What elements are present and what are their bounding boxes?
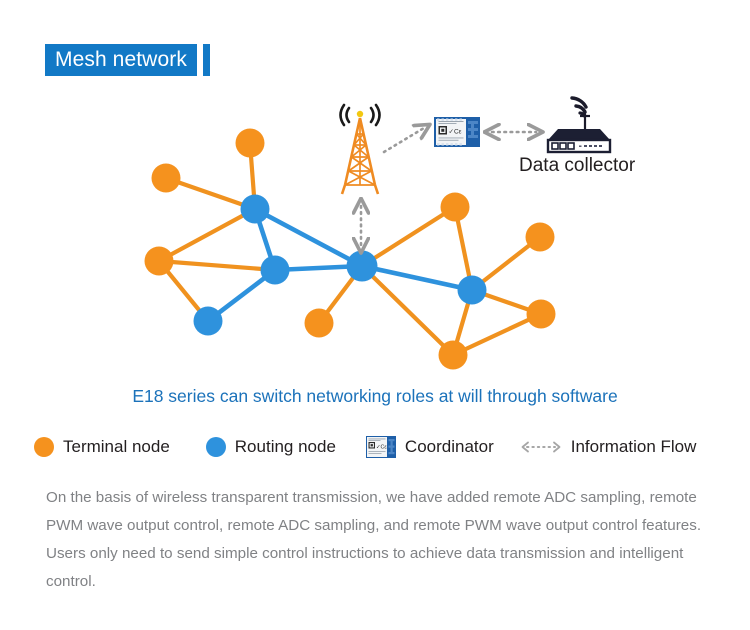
terminal-node — [526, 223, 555, 252]
legend: Terminal node Routing node ✓Cε — [34, 436, 724, 458]
terminal-node — [236, 129, 265, 158]
transmission-tower-icon — [341, 105, 380, 194]
routing-node — [261, 256, 290, 285]
orange-dot-icon — [34, 437, 54, 457]
coordinator-module-icon: ✓Cε — [434, 117, 480, 147]
legend-label: Terminal node — [63, 437, 170, 457]
legend-item-routing-node: Routing node — [206, 437, 336, 457]
legend-item-information-flow: Information Flow — [520, 437, 697, 457]
routing-node — [241, 195, 270, 224]
terminal-node — [145, 247, 174, 276]
legend-label: Routing node — [235, 437, 336, 457]
data-collector-label: Data collector — [519, 155, 635, 177]
diagram-caption: E18 series can switch networking roles a… — [0, 386, 750, 407]
legend-label: Information Flow — [571, 437, 697, 457]
legend-label: Coordinator — [405, 437, 494, 457]
coordinator-module-icon: ✓Cε — [366, 436, 396, 458]
terminal-node — [439, 341, 468, 370]
routing-node-central — [347, 251, 378, 282]
description-paragraph: On the basis of wireless transparent tra… — [46, 484, 711, 596]
terminal-node — [152, 164, 181, 193]
routing-links — [208, 209, 472, 321]
arrow-tower-to-module — [384, 128, 424, 152]
mesh-network-diagram: ✓Cε — [0, 80, 750, 380]
section-title-banner: Mesh network — [45, 44, 210, 76]
terminal-node — [305, 309, 334, 338]
blue-dot-icon — [206, 437, 226, 457]
legend-item-terminal-node: Terminal node — [34, 437, 170, 457]
page-title: Mesh network — [45, 44, 197, 76]
terminal-node — [527, 300, 556, 329]
svg-text:✓Cε: ✓Cε — [449, 129, 462, 136]
routing-node — [194, 307, 223, 336]
svg-text:✓Cε: ✓Cε — [376, 444, 387, 450]
data-collector-router-icon — [548, 98, 610, 152]
terminal-node — [441, 193, 470, 222]
bidirectional-dotted-arrow-icon — [520, 440, 562, 454]
title-accent-bar — [203, 44, 210, 76]
legend-item-coordinator: ✓Cε Coordinator — [366, 436, 494, 458]
routing-node — [458, 276, 487, 305]
